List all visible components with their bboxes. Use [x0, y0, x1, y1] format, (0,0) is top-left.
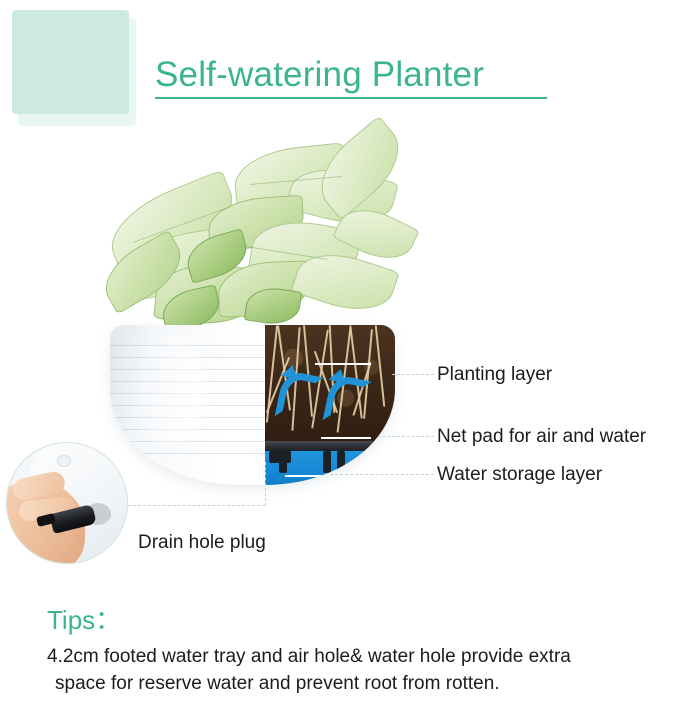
planting-layer-soil [265, 325, 395, 443]
callout-water-storage: Water storage layer [437, 463, 602, 486]
leader-drain-vertical [265, 462, 266, 506]
leader-drain-horizontal [128, 505, 265, 506]
page-title: Self-watering Planter [155, 54, 575, 99]
page-title-text: Self-watering Planter [155, 54, 575, 96]
callout-planting-layer: Planting layer [437, 363, 552, 386]
plant-foliage-icon [100, 140, 415, 355]
water-storage-layer [265, 451, 395, 485]
leader-water [330, 474, 434, 475]
stub-planting [315, 363, 371, 365]
pot-cutaway-section [265, 325, 395, 485]
stub-water [285, 475, 349, 477]
callout-drain-hole-plug: Drain hole plug [138, 531, 266, 554]
title-underline [155, 97, 547, 99]
planter-illustration [100, 140, 415, 490]
tips-line-2: space for reserve water and prevent root… [55, 672, 500, 696]
leader-planting [392, 374, 434, 375]
drain-hole-inset-photo [7, 443, 127, 563]
infographic-page: Self-watering Planter [0, 0, 679, 705]
decorative-square-front [12, 10, 129, 114]
tips-line-1: 4.2cm footed water tray and air hole& wa… [47, 645, 571, 669]
callout-net-pad: Net pad for air and water [437, 425, 646, 448]
tips-heading: Tips： [47, 605, 121, 636]
stub-netpad [321, 437, 371, 439]
net-pad-layer [265, 441, 395, 451]
leader-netpad [378, 436, 434, 437]
